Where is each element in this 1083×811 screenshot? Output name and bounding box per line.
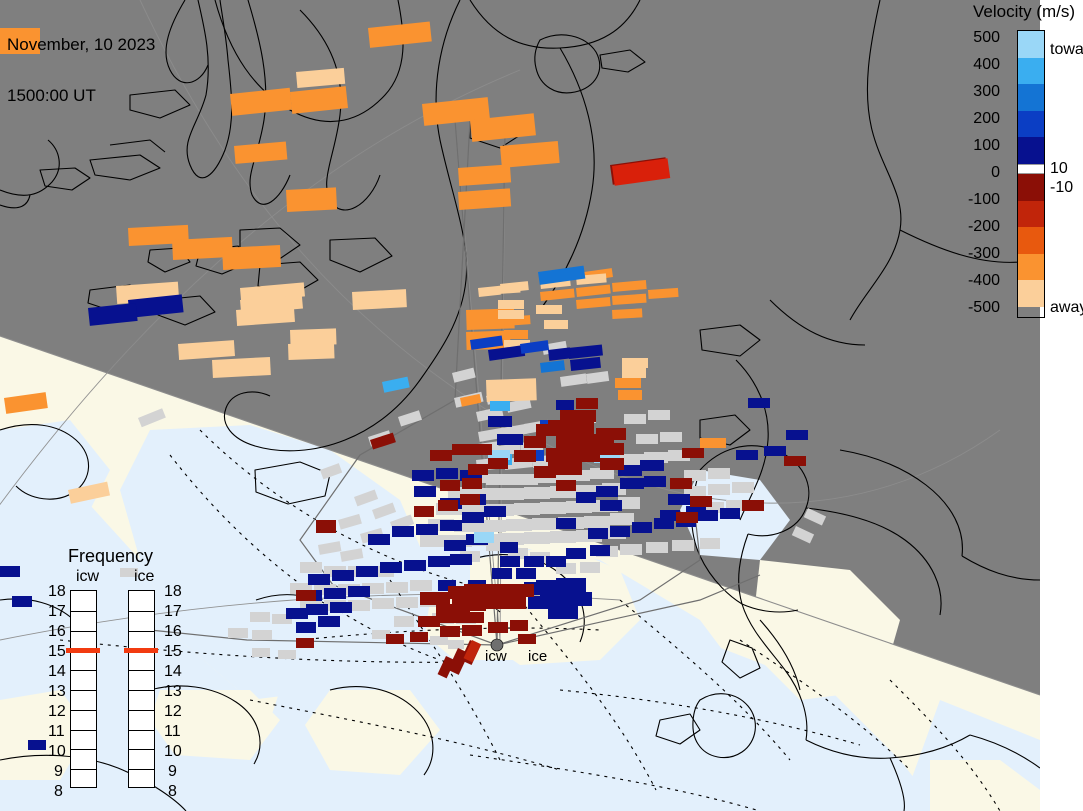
frequency-tick-right-11: 11 xyxy=(164,724,181,740)
velocity-tick-m200: -200 xyxy=(968,219,1000,235)
frequency-legend-title: Frequency xyxy=(68,546,153,567)
frequency-tick-left-15: 15 xyxy=(48,644,66,660)
colorbar-swatch-zero xyxy=(1018,164,1044,174)
velocity-legend: Velocity (m/s) 500 400 300 200 100 0 -10… xyxy=(950,0,1083,340)
date-label: November, 10 2023 xyxy=(7,36,155,53)
site-label-ice: ice xyxy=(528,648,547,665)
frequency-tick-right-13: 13 xyxy=(164,684,182,700)
velocity-tick-300: 300 xyxy=(973,84,1000,100)
frequency-channel-label-ice: ice xyxy=(134,568,154,586)
velocity-tick-m400: -400 xyxy=(968,273,1000,289)
frequency-tick-left-11: 11 xyxy=(48,724,65,740)
velocity-label-minus-10: -10 xyxy=(1050,180,1073,196)
frequency-bar-ice[interactable] xyxy=(128,590,155,788)
velocity-tick-200: 200 xyxy=(973,111,1000,127)
velocity-tick-m500: -500 xyxy=(968,300,1000,316)
velocity-tick-0: 0 xyxy=(991,165,1000,181)
frequency-tick-left-18: 18 xyxy=(48,584,66,600)
frequency-tick-right-18: 18 xyxy=(164,584,182,600)
colorbar-swatch-10-100 xyxy=(1018,137,1044,164)
velocity-tick-m100: -100 xyxy=(968,192,1000,208)
frequency-tick-left-8: 8 xyxy=(54,784,63,800)
frequency-tick-left-12: 12 xyxy=(48,704,66,720)
frequency-legend: Frequency icw ice 18 17 16 15 14 xyxy=(48,546,198,786)
colorbar-swatch-m200-m300 xyxy=(1018,227,1044,254)
frequency-tick-left-14: 14 xyxy=(48,664,66,680)
velocity-label-plus-10: 10 xyxy=(1050,161,1068,177)
superdarn-map-page: November, 10 2023 1500:00 UT icw ice Fre… xyxy=(0,0,1083,811)
frequency-tick-left-17: 17 xyxy=(48,604,66,620)
frequency-tick-right-16: 16 xyxy=(164,624,182,640)
frequency-tick-right-8: 8 xyxy=(168,784,177,800)
velocity-colorbar[interactable] xyxy=(1017,30,1045,318)
colorbar-swatch-400-500 xyxy=(1018,31,1044,58)
frequency-tick-left-16: 16 xyxy=(48,624,66,640)
velocity-label-toward: toward xyxy=(1050,42,1083,58)
colorbar-swatch-300-400 xyxy=(1018,58,1044,85)
colorbar-swatch-m300-m400 xyxy=(1018,254,1044,281)
timestamp-block: November, 10 2023 1500:00 UT xyxy=(7,2,155,138)
frequency-tick-right-17: 17 xyxy=(164,604,182,620)
colorbar-swatch-200-300 xyxy=(1018,84,1044,111)
velocity-tick-m300: -300 xyxy=(968,246,1000,262)
time-label: 1500:00 UT xyxy=(7,87,155,104)
velocity-tick-500: 500 xyxy=(973,30,1000,46)
colorbar-swatch-m10-m100 xyxy=(1018,174,1044,201)
frequency-marker-ice xyxy=(124,648,158,653)
velocity-tick-100: 100 xyxy=(973,138,1000,154)
colorbar-swatch-m400-m500 xyxy=(1018,280,1044,307)
colorbar-swatch-m100-m200 xyxy=(1018,201,1044,228)
velocity-tick-400: 400 xyxy=(973,57,1000,73)
frequency-tick-right-15: 15 xyxy=(164,644,182,660)
velocity-legend-title: Velocity (m/s) xyxy=(973,2,1075,22)
frequency-tick-right-12: 12 xyxy=(164,704,182,720)
site-label-icw: icw xyxy=(485,648,507,665)
frequency-tick-right-14: 14 xyxy=(164,664,182,680)
frequency-tick-left-10: 10 xyxy=(48,744,66,760)
frequency-tick-left-13: 13 xyxy=(48,684,66,700)
frequency-bar-icw[interactable] xyxy=(70,590,97,788)
map-panel[interactable]: November, 10 2023 1500:00 UT icw ice Fre… xyxy=(0,0,1040,811)
velocity-label-away: away xyxy=(1050,300,1083,316)
frequency-tick-right-10: 10 xyxy=(164,744,182,760)
frequency-tick-right-9: 9 xyxy=(168,764,177,780)
frequency-channel-label-icw: icw xyxy=(76,568,99,586)
colorbar-swatch-100-200 xyxy=(1018,111,1044,138)
frequency-tick-left-9: 9 xyxy=(54,764,63,780)
frequency-marker-icw xyxy=(66,648,100,653)
